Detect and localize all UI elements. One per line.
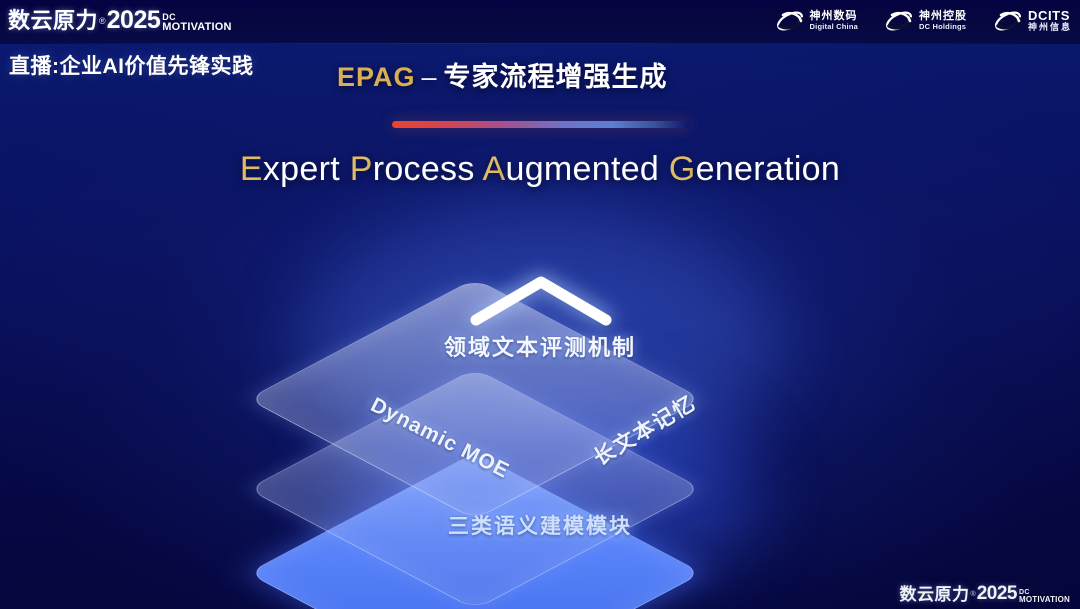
partner-logo-text: 神州数码 Digital China [810,11,858,30]
layer-stack-diagram: 领域文本评测机制 Dynamic MOE 长文本记忆 三类语义建模模块 [0,200,1080,600]
brand-logo-top: 数云原力 ® 2025 DC MOTIVATION [8,3,232,35]
brand-logo-watermark: 数云原力 ® 2025 DC MOTIVATION [900,580,1070,605]
partner-logo-text: 神州控股 DC Holdings [919,11,967,30]
brand-name-cn: 数云原力 [8,3,98,35]
page-title-chinese: 专家流程增强生成 [444,62,668,92]
brand-dc-motivation: DC MOTIVATION [162,13,231,35]
brand-motivation-label: MOTIVATION [162,22,231,33]
subtitle-segment-4: A [483,150,506,188]
subtitle-segment-3: rocess [373,150,483,188]
partner-name-en: 神州信息 [1028,23,1072,32]
subtitle-segment-1: xpert [263,150,350,188]
swoosh-logo-icon [775,8,805,34]
slide-canvas: 数云原力 ® 2025 DC MOTIVATION 神州数码 Digital C… [0,0,1080,609]
brand-year: 2025 [977,583,1017,605]
swoosh-logo-icon [884,8,914,34]
subtitle-segment-0: E [240,150,263,188]
brand-registered-mark: ® [99,16,106,26]
brand-dc-motivation: DC MOTIVATION [1019,589,1070,605]
partner-logo-digital-china: 神州数码 Digital China [775,8,858,34]
partner-logo-dc-holdings: 神州控股 DC Holdings [884,8,967,34]
brand-name-cn: 数云原力 [900,580,970,605]
gradient-divider [392,121,690,128]
partner-name-en: DC Holdings [919,23,967,31]
live-stream-label: 直播:企业AI价值先锋实践 [9,50,254,80]
partner-logo-dcits: DCITS 神州信息 [993,8,1072,34]
partner-name-en: Digital China [810,23,858,31]
subtitle-segment-7: eneration [696,150,840,188]
partner-logo-text: DCITS 神州信息 [1028,9,1072,32]
page-title: EPAG–专家流程增强生成 [337,55,668,94]
page-title-dash: – [422,62,438,92]
brand-registered-mark: ® [971,591,976,598]
subtitle-segment-6: G [669,150,696,188]
subtitle-segment-2: P [350,150,373,188]
subtitle-expansion: Expert Process Augmented Generation [0,150,1080,189]
brand-motivation-label: MOTIVATION [1019,596,1070,604]
partner-logo-group: 神州数码 Digital China 神州控股 DC Holdings [775,4,1072,38]
page-title-acronym: EPAG [337,62,416,92]
brand-year: 2025 [107,6,161,35]
swoosh-logo-icon [993,8,1023,34]
subtitle-segment-5: ugmented [506,150,669,188]
